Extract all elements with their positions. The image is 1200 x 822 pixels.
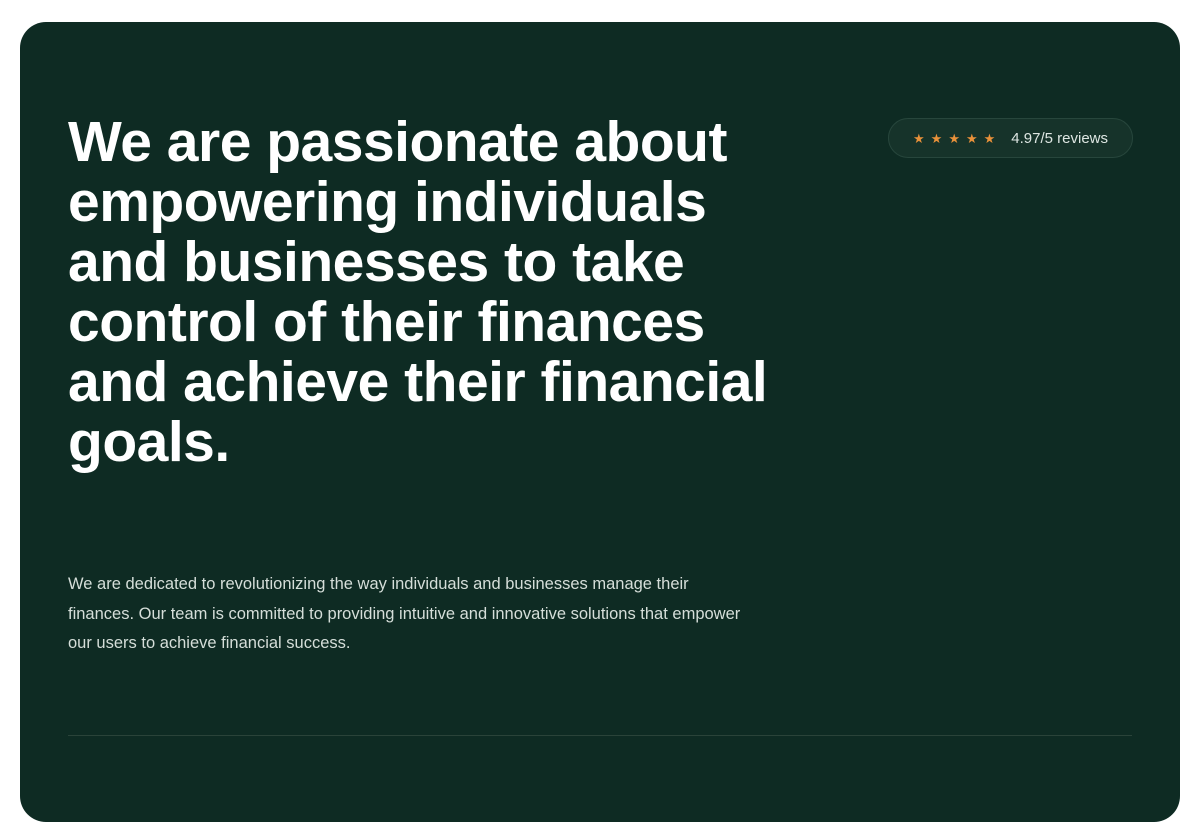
rating-label: 4.97/5 reviews: [1011, 131, 1108, 146]
star-icon: ★: [913, 132, 925, 145]
star-icon: ★: [948, 132, 960, 145]
hero-body-text: We are dedicated to revolutionizing the …: [68, 570, 758, 659]
star-icon: ★: [966, 132, 978, 145]
hero-heading: We are passionate about empowering indiv…: [68, 112, 788, 472]
hero-panel: ★ ★ ★ ★ ★ 4.97/5 reviews We are passiona…: [20, 22, 1180, 822]
star-icon: ★: [984, 132, 996, 145]
rating-badge[interactable]: ★ ★ ★ ★ ★ 4.97/5 reviews: [888, 118, 1133, 158]
star-icon: ★: [931, 132, 943, 145]
section-divider: [68, 735, 1132, 736]
page-root: ★ ★ ★ ★ ★ 4.97/5 reviews We are passiona…: [0, 0, 1200, 800]
rating-stars: ★ ★ ★ ★ ★: [913, 132, 995, 145]
